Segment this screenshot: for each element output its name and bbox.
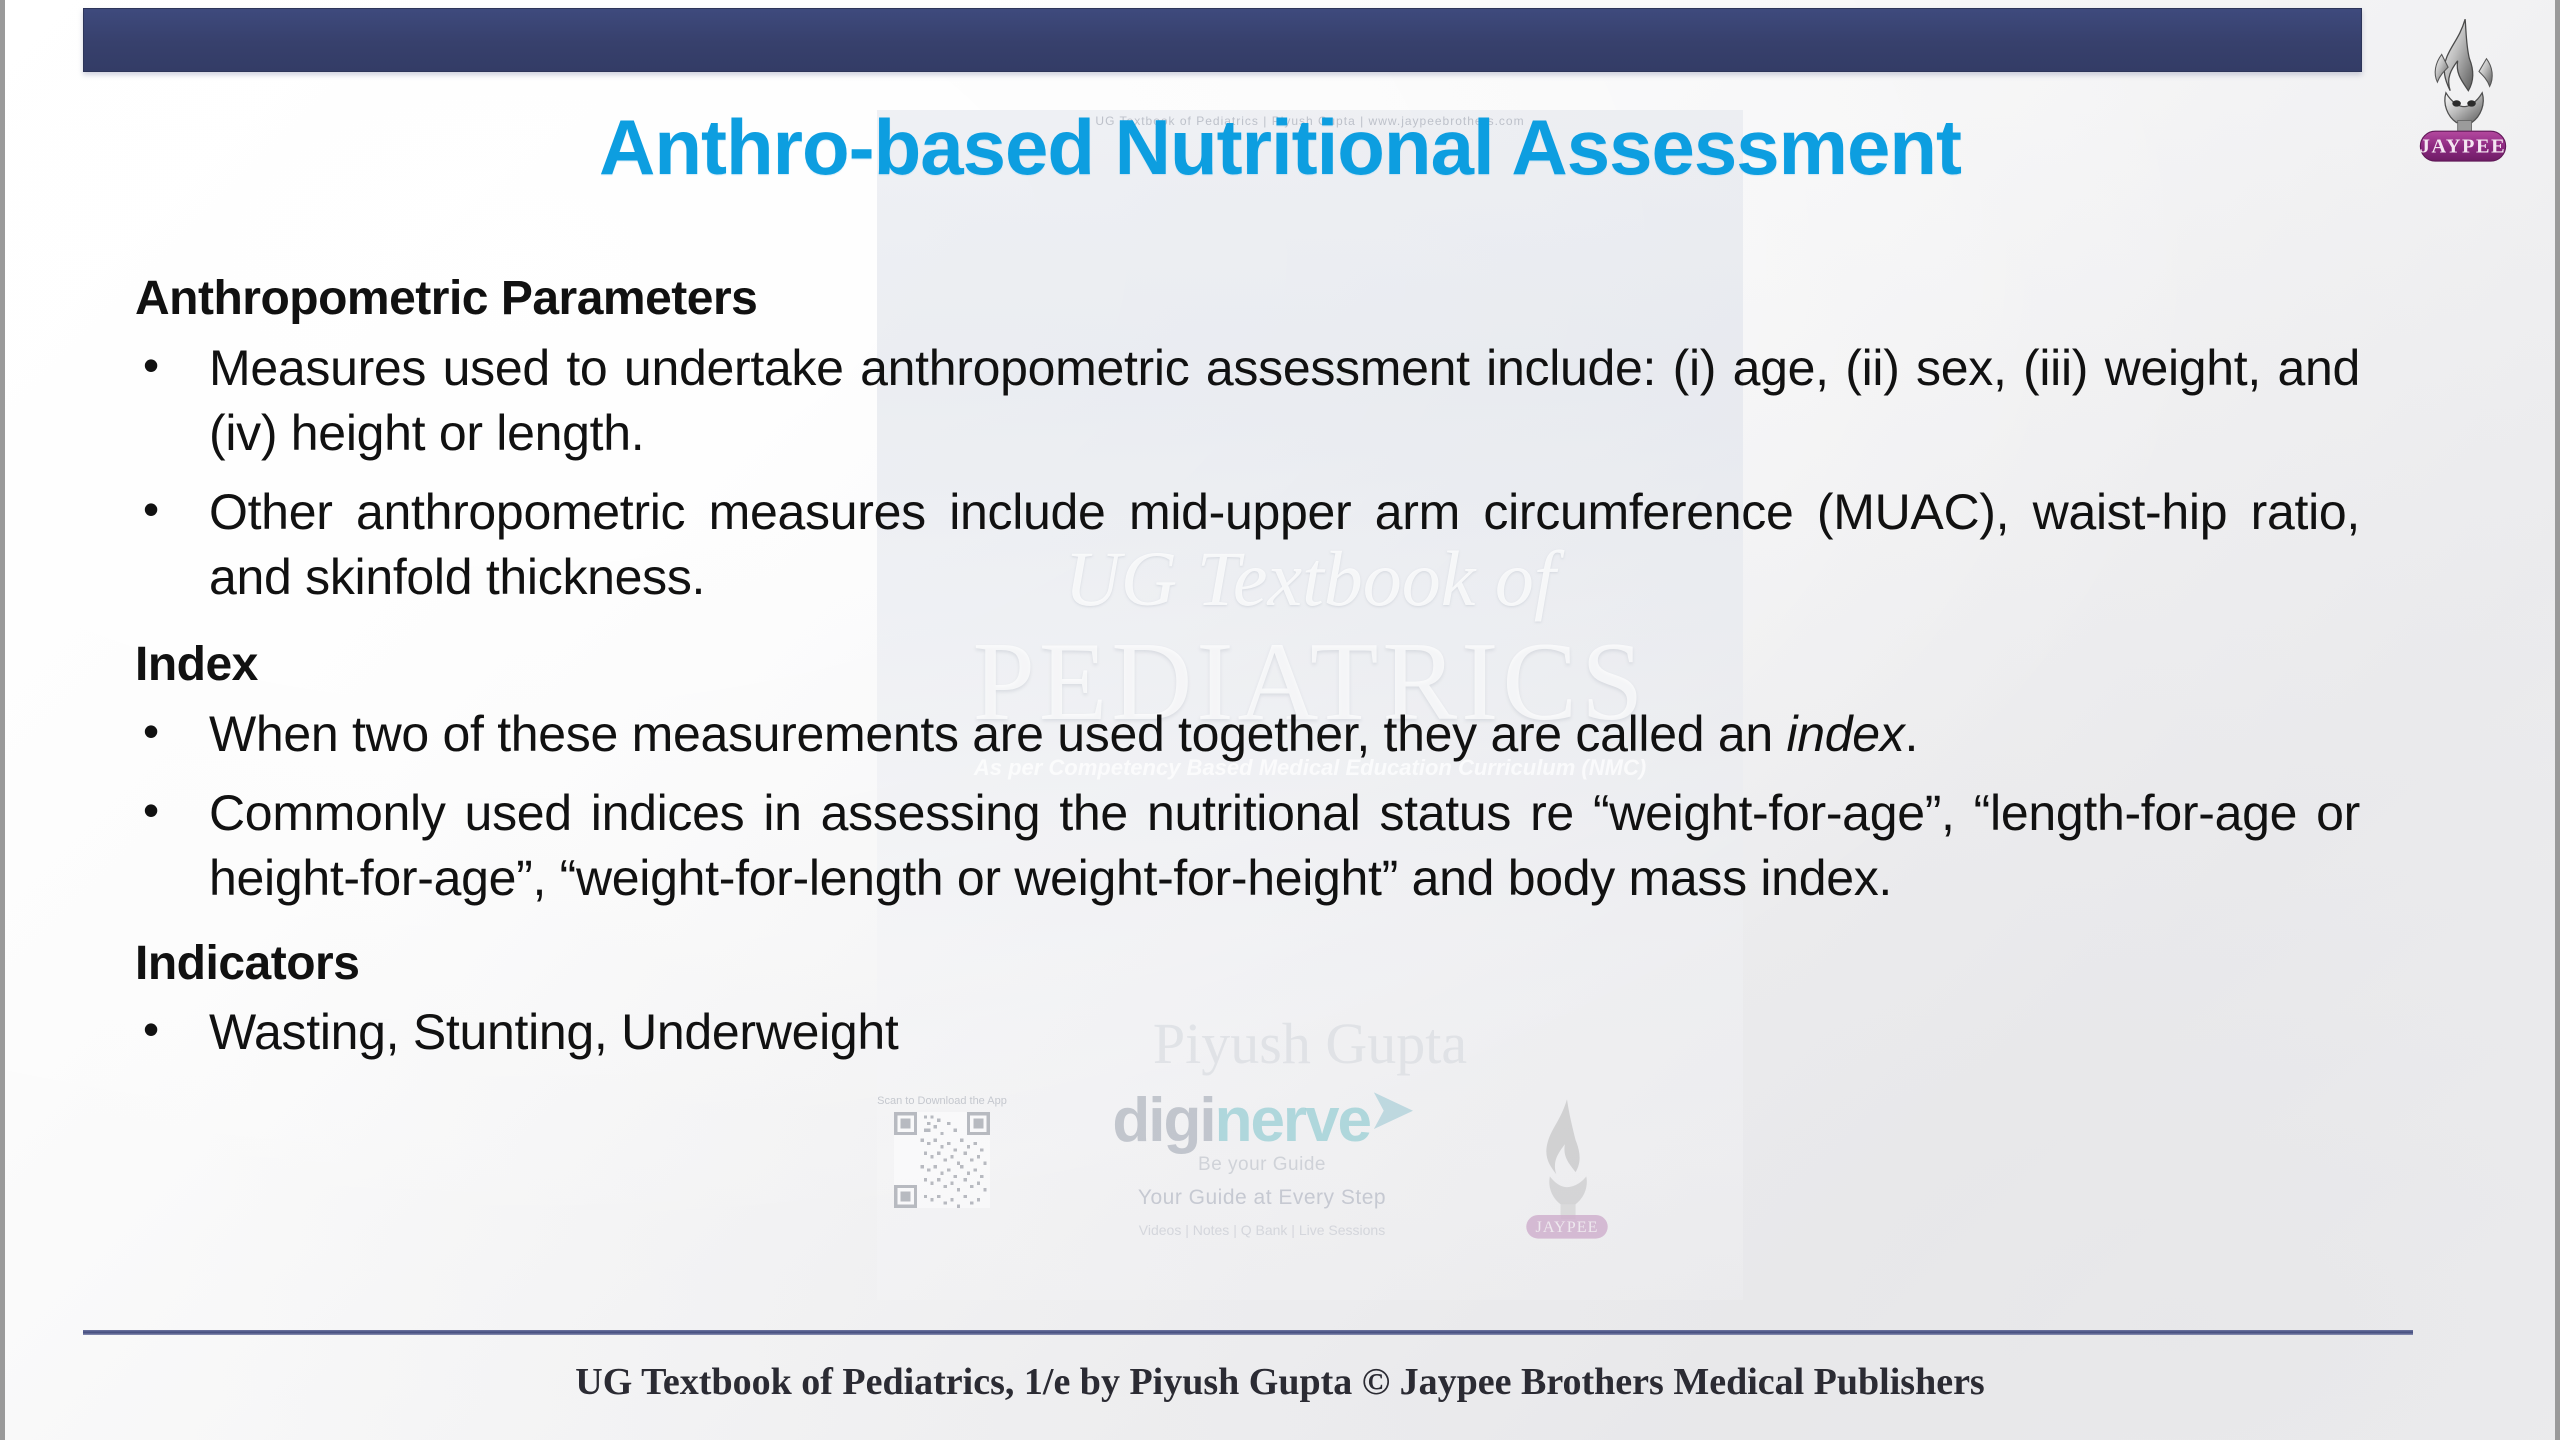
jaypee-logo-watermark: JAYPEE — [1512, 1095, 1622, 1245]
bullet-text: Measures used to undertake anthropometri… — [209, 336, 2360, 466]
footer-divider — [83, 1330, 2413, 1335]
bullet-glyph: • — [135, 702, 209, 761]
bullet-text: Commonly used indices in assessing the n… — [209, 781, 2360, 911]
section-heading-indicators: Indicators — [135, 937, 2360, 991]
brand-tagline: Your Guide at Every Step — [1052, 1186, 1472, 1210]
jaypee-flame-icon: JAYPEE — [1512, 1095, 1622, 1245]
qr-code-icon — [894, 1112, 990, 1208]
brand-word-part1: digi — [1112, 1086, 1214, 1155]
bullet-text-emphasis: index — [1786, 706, 1904, 762]
bullet-glyph: • — [135, 336, 209, 395]
diginerve-wordmark: diginerve➤ — [1052, 1090, 1472, 1152]
bullet-text: Other anthropometric measures include mi… — [209, 480, 2360, 610]
bullet-glyph: • — [135, 1000, 209, 1059]
footer-attribution: UG Textbook of Pediatrics, 1/e by Piyush… — [5, 1360, 2555, 1404]
bullet-item: • When two of these measurements are use… — [135, 702, 2360, 767]
slide-body: Anthropometric Parameters • Measures use… — [135, 272, 2360, 1079]
bullet-text: When two of these measurements are used … — [209, 702, 2360, 767]
bullet-glyph: • — [135, 480, 209, 539]
diginerve-brand-watermark: diginerve➤ Be your Guide Your Guide at E… — [1052, 1090, 1472, 1238]
bullet-item: • Commonly used indices in assessing the… — [135, 781, 2360, 911]
brand-tagline-faded: Be your Guide — [1052, 1154, 1472, 1176]
qr-caption: Scan to Download the App — [877, 1095, 1007, 1108]
bullet-text-after: . — [1905, 706, 1919, 762]
slide-title: Anthro-based Nutritional Assessment — [5, 102, 2555, 193]
watermark-qr-block: Scan to Download the App — [877, 1095, 1007, 1208]
presentation-slide: UG Textbook of Pediatrics | Piyush Gupta… — [0, 0, 2560, 1440]
slide-header-bar — [83, 8, 2362, 72]
bullet-glyph: • — [135, 781, 209, 840]
brand-subline: Videos | Notes | Q Bank | Live Sessions — [1052, 1222, 1472, 1238]
bullet-item: • Other anthropometric measures include … — [135, 480, 2360, 610]
bullet-text: Wasting, Stunting, Underweight — [209, 1000, 2360, 1065]
bullet-item: • Wasting, Stunting, Underweight — [135, 1000, 2360, 1065]
brand-word-part2: nerve — [1215, 1086, 1370, 1155]
svg-text:JAYPEE: JAYPEE — [1536, 1219, 1599, 1236]
bullet-text-before: When two of these measurements are used … — [209, 706, 1786, 762]
section-heading-anthropometric-parameters: Anthropometric Parameters — [135, 272, 2360, 326]
section-heading-index: Index — [135, 638, 2360, 692]
bullet-item: • Measures used to undertake anthropomet… — [135, 336, 2360, 466]
chevron-right-icon: ➤ — [1370, 1084, 1412, 1136]
